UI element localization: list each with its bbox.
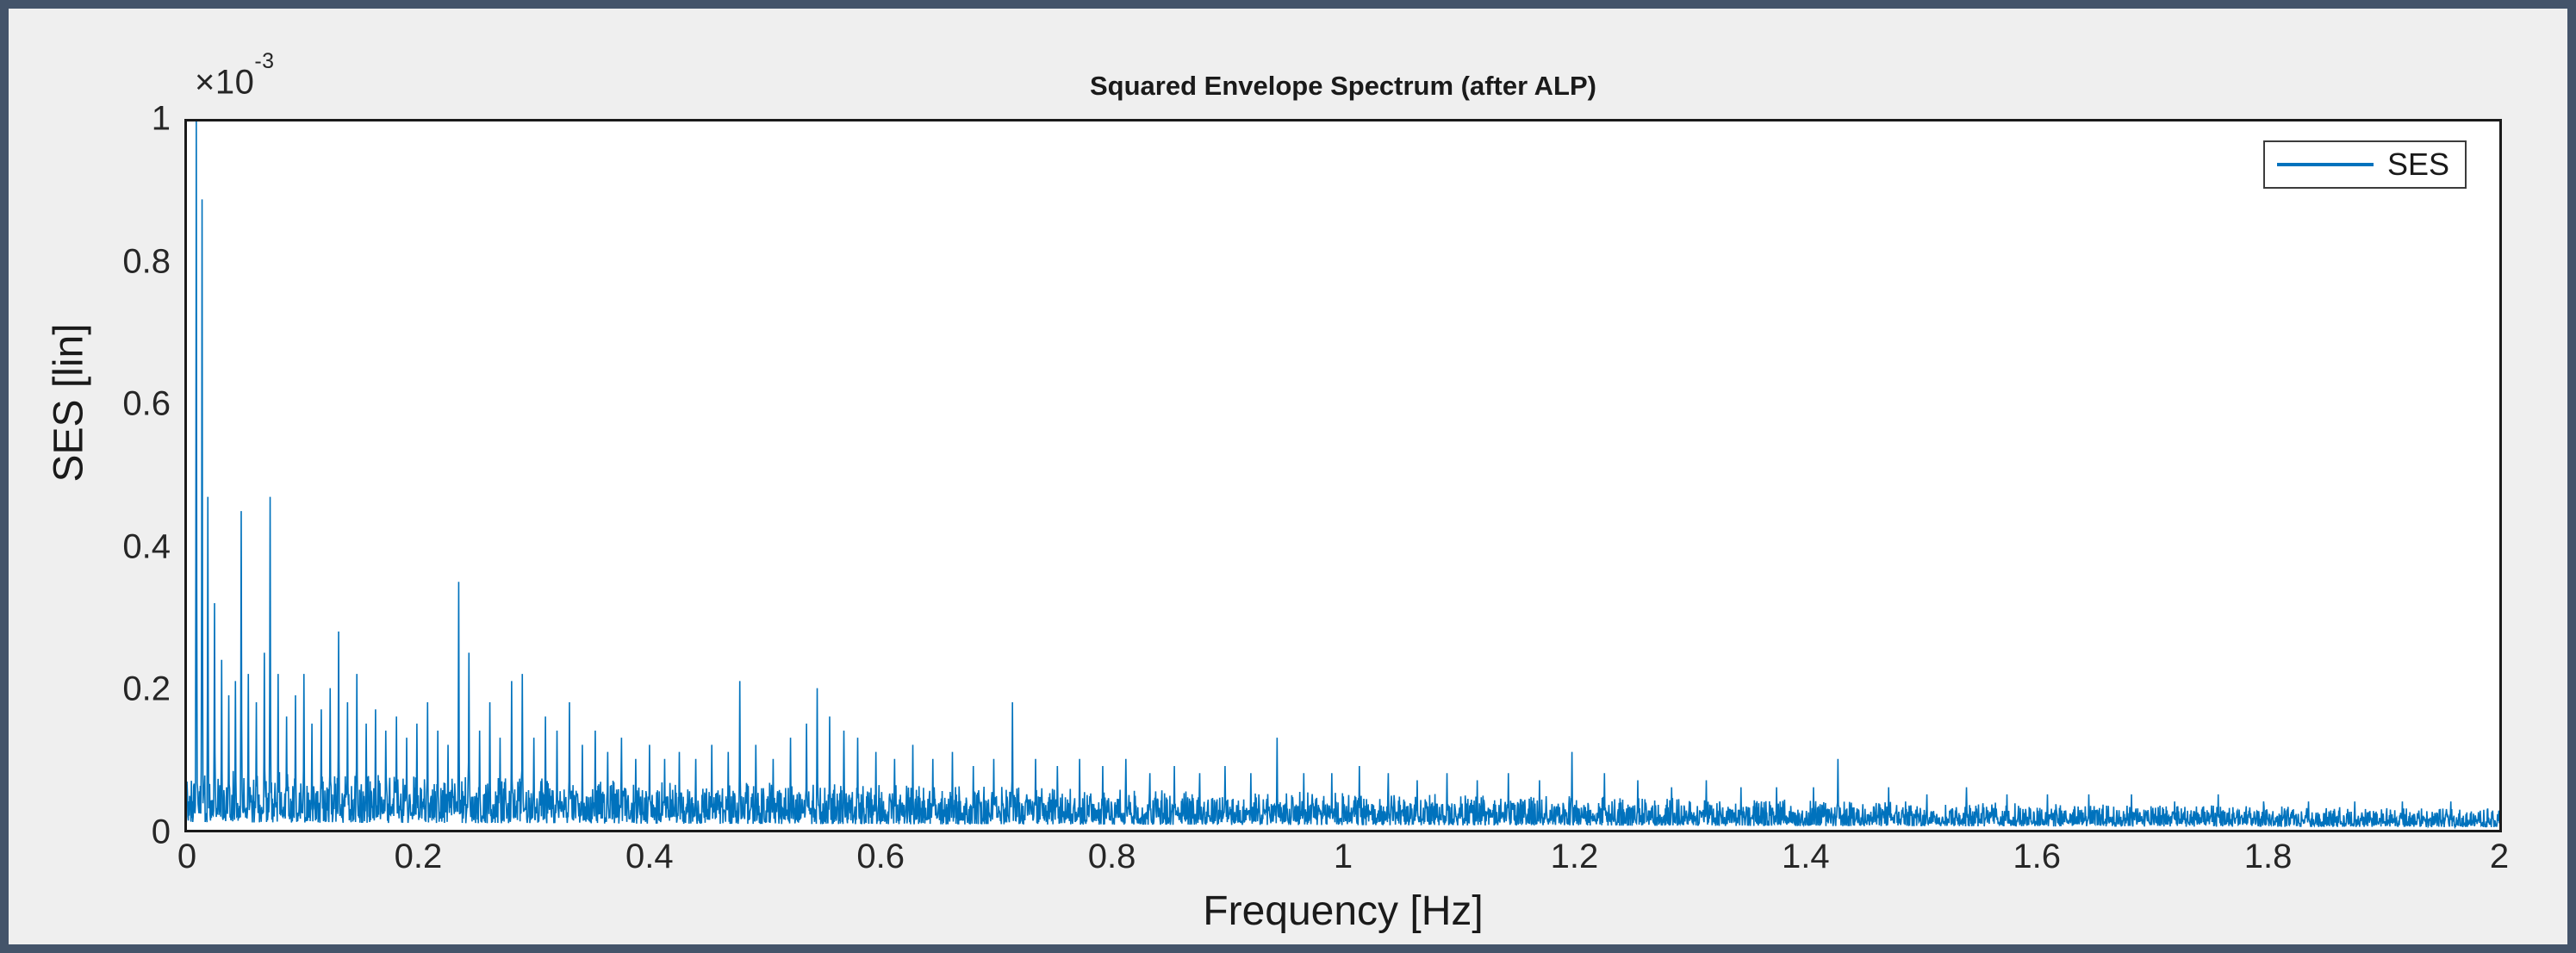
y-tick-label: 0.2 bbox=[33, 670, 171, 709]
legend-label-ses: SES bbox=[2387, 149, 2449, 180]
y-axis-label: SES [lin] bbox=[46, 136, 93, 670]
x-tick-label: 0.4 bbox=[625, 838, 674, 876]
x-tick-label: 1.4 bbox=[1782, 838, 1830, 876]
x-tick-label: 0 bbox=[177, 838, 196, 876]
spectrum-plot bbox=[187, 121, 2499, 830]
x-axis-tick-labels: 00.20.40.60.811.21.41.61.82 bbox=[184, 838, 2502, 889]
plot-axes[interactable]: SES bbox=[184, 119, 2502, 832]
exponent-power: -3 bbox=[254, 49, 274, 73]
exponent-mantissa: ×10 bbox=[195, 63, 254, 101]
x-tick-label: 1 bbox=[1334, 838, 1353, 876]
y-axis-exponent-label: ×10-3 bbox=[195, 62, 275, 102]
chart-title: Squared Envelope Spectrum (after ALP) bbox=[184, 71, 2502, 102]
x-tick-label: 0.2 bbox=[395, 838, 443, 876]
x-tick-label: 1.2 bbox=[1551, 838, 1599, 876]
x-tick-label: 0.8 bbox=[1088, 838, 1136, 876]
x-axis-label: Frequency [Hz] bbox=[184, 888, 2502, 935]
y-tick-label: 0 bbox=[33, 813, 171, 852]
x-tick-label: 1.6 bbox=[2013, 838, 2061, 876]
ses-line-series bbox=[187, 121, 2499, 827]
matlab-figure-window: Squared Envelope Spectrum (after ALP) ×1… bbox=[0, 0, 2576, 953]
x-tick-label: 0.6 bbox=[856, 838, 905, 876]
x-tick-label: 1.8 bbox=[2244, 838, 2293, 876]
x-tick-label: 2 bbox=[2490, 838, 2509, 876]
legend-line-swatch-ses bbox=[2277, 163, 2374, 166]
y-tick-label: 1 bbox=[33, 100, 171, 139]
legend[interactable]: SES bbox=[2263, 140, 2467, 189]
